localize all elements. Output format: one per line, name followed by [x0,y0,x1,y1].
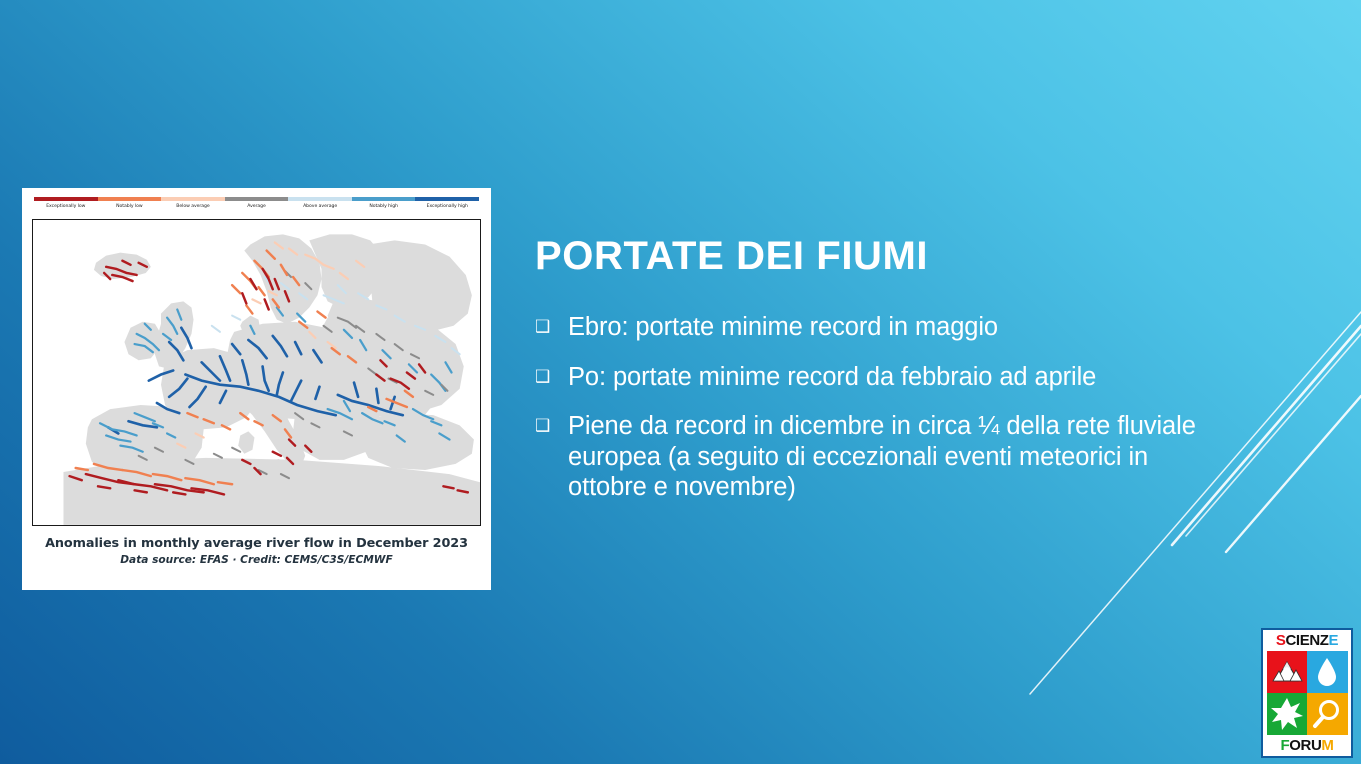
legend-label: Notably high [369,204,398,209]
logo-letter: O [1289,737,1300,754]
river-flow-figure-card: Exceptionally low Notably low Below aver… [22,188,491,590]
legend-item: Exceptionally high [415,197,479,217]
legend-swatch [98,197,162,201]
logo-bottom-word: FORUM [1280,737,1333,754]
europe-river-anomaly-map [32,219,481,526]
logo-letter: F [1280,737,1289,754]
logo-top-word: SCIENZE [1276,632,1338,649]
legend-item: Above average [288,197,352,217]
legend-label: Exceptionally low [46,204,85,209]
list-item-text: Piene da record in dicembre in circa ¼ d… [568,411,1215,503]
square-bullet-icon: ❑ [535,411,568,441]
logo-letter: R [1301,737,1311,754]
logo-letter: Z [1320,632,1329,649]
legend-label: Exceptionally high [427,204,468,209]
legend-swatch [288,197,352,201]
legend-swatch [352,197,416,201]
bullet-list: ❑ Ebro: portate minime record in maggio … [535,312,1215,522]
legend-item: Notably low [98,197,162,217]
logo-letter: N [1309,632,1319,649]
legend-label: Average [247,204,266,209]
map-legend: Exceptionally low Notably low Below aver… [32,197,481,217]
logo-letter: E [1300,632,1310,649]
list-item-text: Po: portate minime record da febbraio ad… [568,362,1096,393]
list-item: ❑ Ebro: portate minime record in maggio [535,312,1215,343]
magnifier-icon [1307,693,1348,735]
star-burst-icon [1267,693,1308,735]
legend-swatch [225,197,289,201]
logo-letter: C [1285,632,1295,649]
mountain-icon [1267,651,1308,693]
legend-swatch [161,197,225,201]
square-bullet-icon: ❑ [535,362,568,392]
legend-label: Above average [303,204,337,209]
logo-letter: M [1321,737,1333,754]
list-item-text: Ebro: portate minime record in maggio [568,312,998,343]
logo-letter: U [1311,737,1321,754]
legend-item: Exceptionally low [34,197,98,217]
scienze-forum-logo: SCIENZE FORUM [1261,628,1353,758]
list-item: ❑ Piene da record in dicembre in circa ¼… [535,411,1215,503]
logo-letter: E [1329,632,1339,649]
legend-item: Below average [161,197,225,217]
legend-item: Average [225,197,289,217]
water-drop-icon [1307,651,1348,693]
legend-item: Notably high [352,197,416,217]
logo-quadrant-grid [1266,650,1349,736]
legend-label: Notably low [116,204,143,209]
figure-caption: Anomalies in monthly average river flow … [32,536,481,551]
legend-label: Below average [176,204,209,209]
page-title: PORTATE DEI FIUMI [535,234,928,279]
legend-swatch [415,197,479,201]
square-bullet-icon: ❑ [535,312,568,342]
legend-swatch [34,197,98,201]
list-item: ❑ Po: portate minime record da febbraio … [535,362,1215,393]
figure-credit: Data source: EFAS · Credit: CEMS/C3S/ECM… [32,554,481,566]
